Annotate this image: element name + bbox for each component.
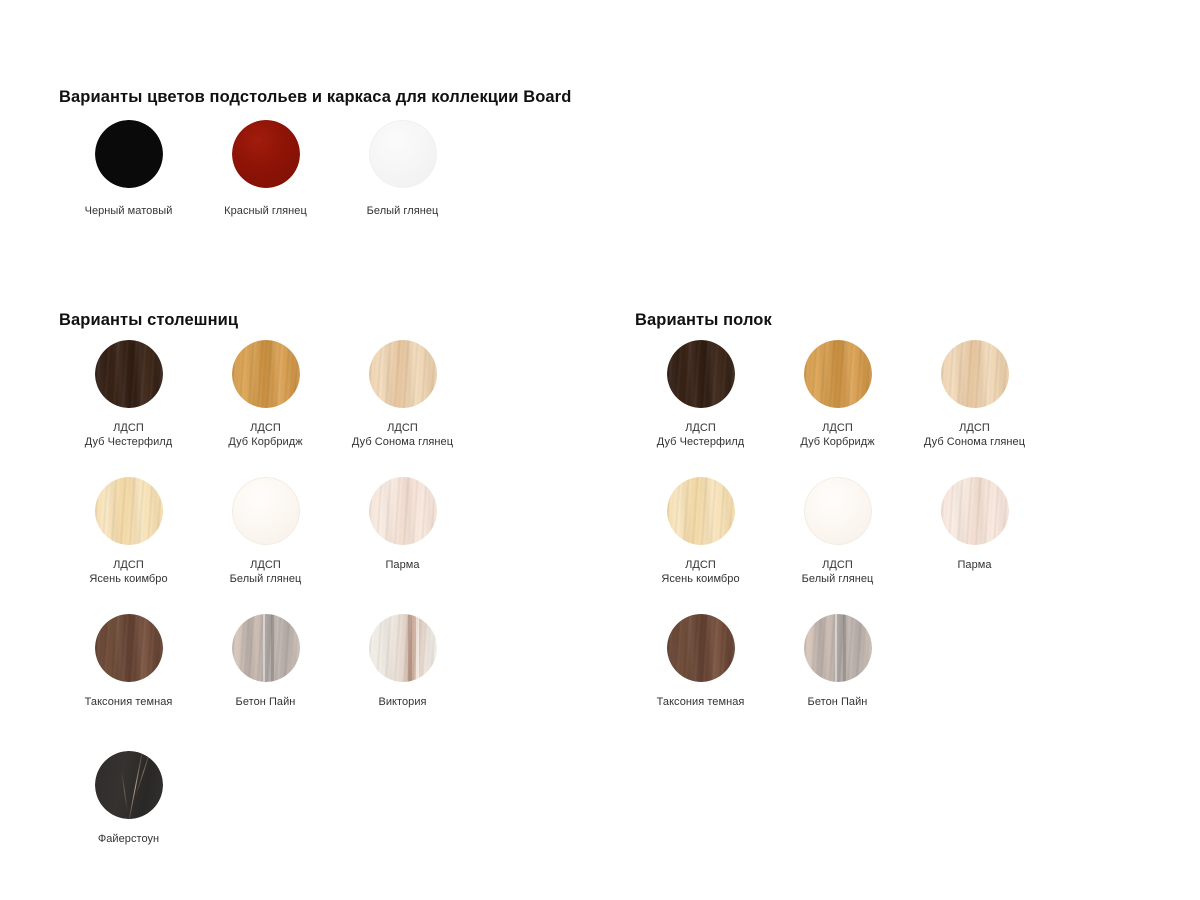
swatch-label: Виктория (378, 696, 426, 710)
swatch-circle[interactable] (369, 477, 437, 545)
swatch-texture (232, 340, 300, 408)
swatch-texture (804, 614, 872, 682)
tabletops-section-title: Варианты столешниц (59, 311, 238, 330)
color-swatch[interactable]: ЛДСП Ясень коимбро (632, 477, 769, 614)
swatch-label: Белый глянец (367, 205, 439, 219)
swatch-texture (232, 614, 300, 682)
color-swatch[interactable]: ЛДСП Дуб Корбридж (769, 340, 906, 477)
swatch-label: Бетон Пайн (808, 696, 868, 710)
color-swatch[interactable]: Черный матовый (60, 120, 197, 232)
swatch-label: Таксония темная (657, 696, 745, 710)
swatch-label: Парма (957, 559, 991, 573)
swatch-texture (941, 477, 1009, 545)
color-swatch[interactable]: Парма (906, 477, 1043, 614)
swatch-texture (667, 614, 735, 682)
swatch-label: Таксония темная (85, 696, 173, 710)
swatch-texture (369, 120, 437, 188)
swatch-label: ЛДСП Белый глянец (802, 559, 874, 586)
swatch-circle[interactable] (232, 477, 300, 545)
swatch-texture (369, 614, 437, 682)
frame-color-grid: Черный матовыйКрасный глянецБелый глянец (60, 120, 471, 232)
swatch-label: ЛДСП Ясень коимбро (89, 559, 167, 586)
shelf-color-grid: ЛДСП Дуб ЧестерфилдЛДСП Дуб КорбриджЛДСП… (632, 340, 1043, 751)
color-swatch[interactable]: ЛДСП Дуб Честерфилд (60, 340, 197, 477)
swatch-circle[interactable] (667, 340, 735, 408)
color-swatch[interactable]: Таксония темная (60, 614, 197, 751)
color-swatch[interactable]: Парма (334, 477, 471, 614)
swatch-texture (95, 340, 163, 408)
color-swatch[interactable]: Таксония темная (632, 614, 769, 751)
color-swatch[interactable]: Бетон Пайн (769, 614, 906, 751)
swatch-texture (95, 751, 163, 819)
swatch-circle[interactable] (232, 340, 300, 408)
swatch-label: Бетон Пайн (236, 696, 296, 710)
swatch-texture (804, 477, 872, 545)
swatch-circle[interactable] (95, 751, 163, 819)
swatch-label: ЛДСП Белый глянец (230, 559, 302, 586)
color-swatch[interactable]: Виктория (334, 614, 471, 751)
swatch-circle[interactable] (95, 614, 163, 682)
swatch-label: ЛДСП Дуб Честерфилд (85, 422, 173, 449)
swatch-texture (95, 120, 163, 188)
swatch-circle[interactable] (369, 340, 437, 408)
swatch-label: ЛДСП Дуб Корбридж (800, 422, 874, 449)
swatch-texture (804, 340, 872, 408)
swatch-circle[interactable] (232, 120, 300, 188)
swatch-texture (667, 340, 735, 408)
color-swatch[interactable]: Бетон Пайн (197, 614, 334, 751)
swatch-circle[interactable] (804, 614, 872, 682)
swatch-circle[interactable] (95, 340, 163, 408)
swatch-texture (369, 340, 437, 408)
swatch-texture (667, 477, 735, 545)
color-swatch[interactable]: ЛДСП Дуб Честерфилд (632, 340, 769, 477)
swatch-label: Черный матовый (85, 205, 173, 219)
swatch-label: Парма (385, 559, 419, 573)
color-swatch[interactable]: Красный глянец (197, 120, 334, 232)
swatch-label: ЛДСП Ясень коимбро (661, 559, 739, 586)
color-swatch[interactable]: Белый глянец (334, 120, 471, 232)
swatch-texture (369, 477, 437, 545)
swatch-circle[interactable] (95, 477, 163, 545)
swatch-label: ЛДСП Дуб Честерфилд (657, 422, 745, 449)
swatch-circle[interactable] (941, 340, 1009, 408)
color-swatch[interactable]: ЛДСП Дуб Сонома глянец (906, 340, 1043, 477)
swatch-circle[interactable] (667, 477, 735, 545)
swatch-circle[interactable] (804, 340, 872, 408)
swatch-label: ЛДСП Дуб Корбридж (228, 422, 302, 449)
swatch-texture (95, 477, 163, 545)
swatch-texture (232, 477, 300, 545)
color-swatch[interactable]: ЛДСП Белый глянец (769, 477, 906, 614)
swatch-texture (232, 120, 300, 188)
swatch-circle[interactable] (232, 614, 300, 682)
swatch-texture (941, 340, 1009, 408)
page-title: Варианты цветов подстольев и каркаса для… (59, 88, 571, 107)
tabletop-color-grid: ЛДСП Дуб ЧестерфилдЛДСП Дуб КорбриджЛДСП… (60, 340, 471, 888)
color-swatch[interactable]: Файерстоун (60, 751, 197, 888)
swatch-circle[interactable] (941, 477, 1009, 545)
swatch-texture (95, 614, 163, 682)
shelves-section-title: Варианты полок (635, 311, 772, 330)
swatch-circle[interactable] (667, 614, 735, 682)
swatch-label: ЛДСП Дуб Сонома глянец (924, 422, 1025, 449)
swatch-circle[interactable] (369, 614, 437, 682)
color-swatch[interactable]: ЛДСП Дуб Корбридж (197, 340, 334, 477)
swatch-circle[interactable] (804, 477, 872, 545)
color-swatch[interactable]: ЛДСП Дуб Сонома глянец (334, 340, 471, 477)
color-swatch[interactable]: ЛДСП Белый глянец (197, 477, 334, 614)
swatch-label: Файерстоун (98, 833, 159, 847)
swatch-label: Красный глянец (224, 205, 307, 219)
color-swatch[interactable]: ЛДСП Ясень коимбро (60, 477, 197, 614)
swatch-circle[interactable] (95, 120, 163, 188)
swatch-circle[interactable] (369, 120, 437, 188)
swatch-label: ЛДСП Дуб Сонома глянец (352, 422, 453, 449)
color-options-page: Варианты цветов подстольев и каркаса для… (0, 0, 1200, 900)
